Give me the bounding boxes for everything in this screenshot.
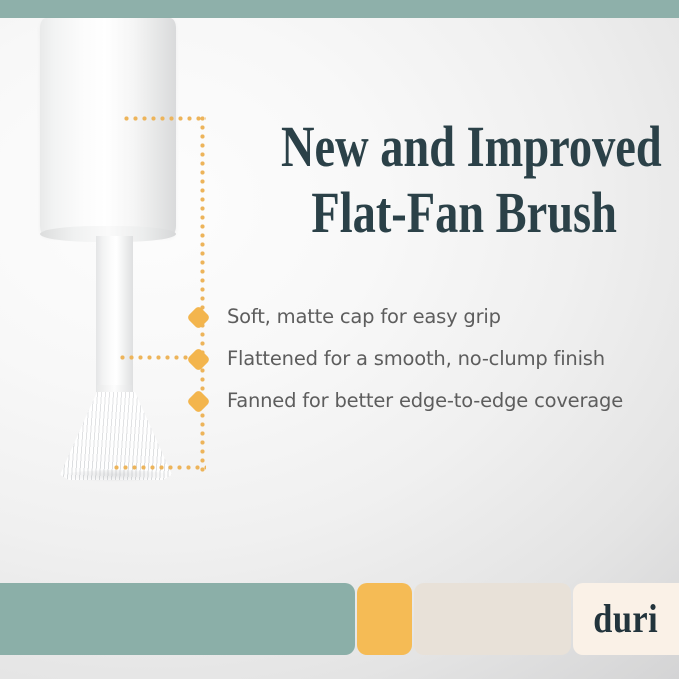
feature-label: Soft, matte cap for easy grip — [227, 305, 501, 329]
dotted-line-to-bristles — [112, 463, 206, 472]
promo-image-canvas: New and Improved Flat-Fan Brush Soft, ma… — [0, 0, 679, 679]
feature-item: Soft, matte cap for easy grip — [186, 296, 656, 338]
feature-item: Flattened for a smooth, no-clump finish — [186, 338, 656, 380]
headline: New and Improved Flat-Fan Brush — [281, 114, 595, 246]
headline-line-1: New and Improved — [281, 114, 595, 180]
bottom-color-bar: duri — [0, 583, 679, 655]
product-photo — [0, 0, 260, 500]
bar-segment-teal — [0, 583, 355, 655]
dotted-line-to-cap — [122, 114, 206, 123]
headline-line-2: Flat-Fan Brush — [281, 180, 595, 246]
diamond-bullet-icon — [186, 389, 210, 413]
diamond-bullet-icon — [186, 305, 210, 329]
feature-item: Fanned for better edge-to-edge coverage — [186, 380, 656, 422]
brush-handle — [96, 236, 133, 392]
feature-list: Soft, matte cap for easy grip Flattened … — [186, 296, 656, 422]
feature-label: Flattened for a smooth, no-clump finish — [227, 347, 605, 371]
bar-segment-beige — [414, 583, 571, 655]
diamond-bullet-icon — [186, 347, 210, 371]
bar-segment-cream: duri — [573, 583, 679, 655]
brand-logo: duri — [594, 599, 659, 639]
feature-label: Fanned for better edge-to-edge coverage — [227, 389, 623, 413]
brush-cap — [40, 18, 176, 236]
bar-segment-amber — [357, 583, 412, 655]
